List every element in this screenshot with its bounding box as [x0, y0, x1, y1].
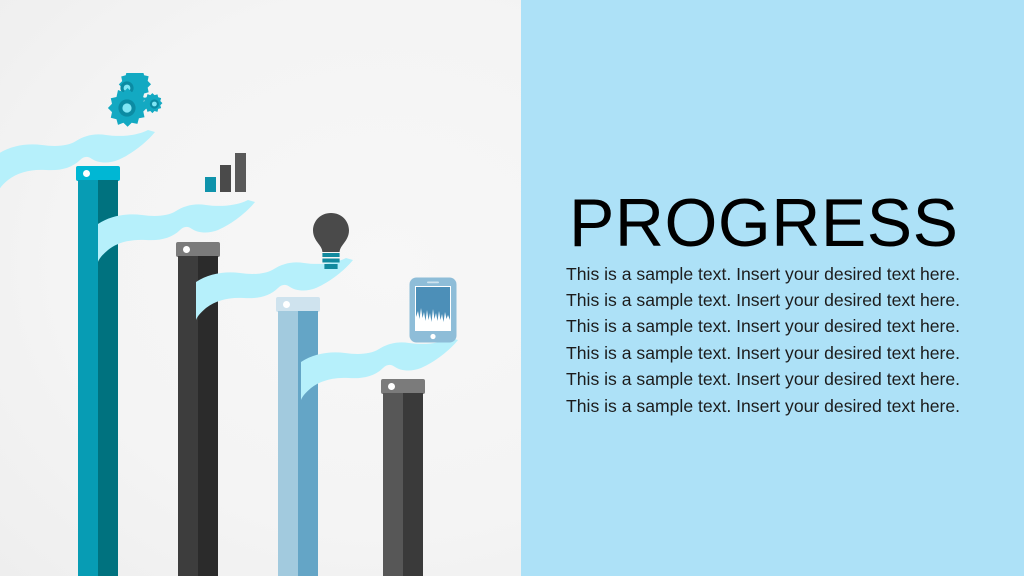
- progress-bar-2-cap: [176, 242, 220, 257]
- light-bulb-icon: [311, 212, 351, 270]
- tablet-icon: [409, 277, 457, 343]
- page-title: PROGRESS: [569, 189, 958, 257]
- progress-bar-1-cap-dot: [83, 170, 90, 177]
- progress-bar-2-cap-dot: [183, 246, 190, 253]
- bar-chart-icon: [204, 152, 248, 192]
- progress-bar-4-cap: [381, 379, 425, 394]
- progress-bar-4-body: [383, 393, 423, 576]
- body-paragraph: This is a sample text. Insert your desir…: [566, 261, 962, 419]
- left-illustration-panel: [0, 0, 521, 576]
- right-content-panel: PROGRESS This is a sample text. Insert y…: [521, 0, 1024, 576]
- progress-bar-1-cap: [76, 166, 120, 181]
- progress-slide: PROGRESS This is a sample text. Insert y…: [0, 0, 1024, 576]
- progress-bar-4: [383, 393, 423, 576]
- progress-bar-4-cap-dot: [388, 383, 395, 390]
- progress-bar-3-cap-dot: [283, 301, 290, 308]
- gears-icon: [101, 73, 167, 133]
- progress-bar-chart: [0, 0, 521, 576]
- progress-bar-3-cap: [276, 297, 320, 312]
